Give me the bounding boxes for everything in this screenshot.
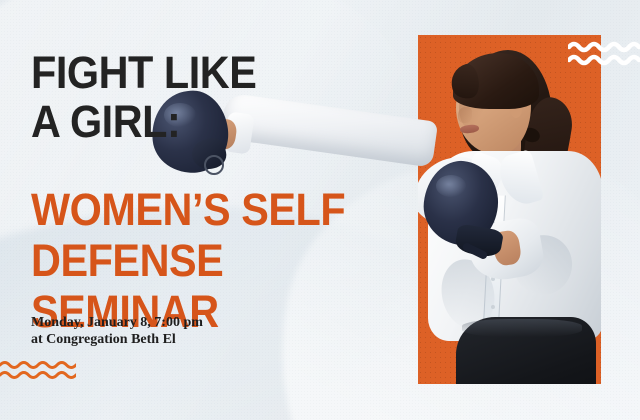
poster-canvas: Fight Like A Girl: Women’s Self Defense … bbox=[0, 0, 640, 420]
boxing-woman-photo bbox=[418, 35, 601, 384]
headline-accent-line-1: Women’s Self bbox=[31, 184, 399, 235]
headline-line-1: Fight Like bbox=[31, 48, 381, 97]
event-location: at Congregation Beth El bbox=[31, 331, 203, 348]
event-details: Monday, January 8, 7:00 pm at Congregati… bbox=[31, 314, 203, 348]
glove-highlight bbox=[436, 175, 466, 197]
event-datetime: Monday, January 8, 7:00 pm bbox=[31, 314, 203, 331]
glove-lace-loop bbox=[204, 155, 224, 175]
headline-primary: Fight Like A Girl: bbox=[31, 48, 381, 146]
headline-line-2: A Girl: bbox=[31, 97, 381, 146]
figure-inside-panel bbox=[418, 35, 601, 384]
nose bbox=[458, 107, 472, 123]
waist-highlight bbox=[462, 319, 582, 337]
